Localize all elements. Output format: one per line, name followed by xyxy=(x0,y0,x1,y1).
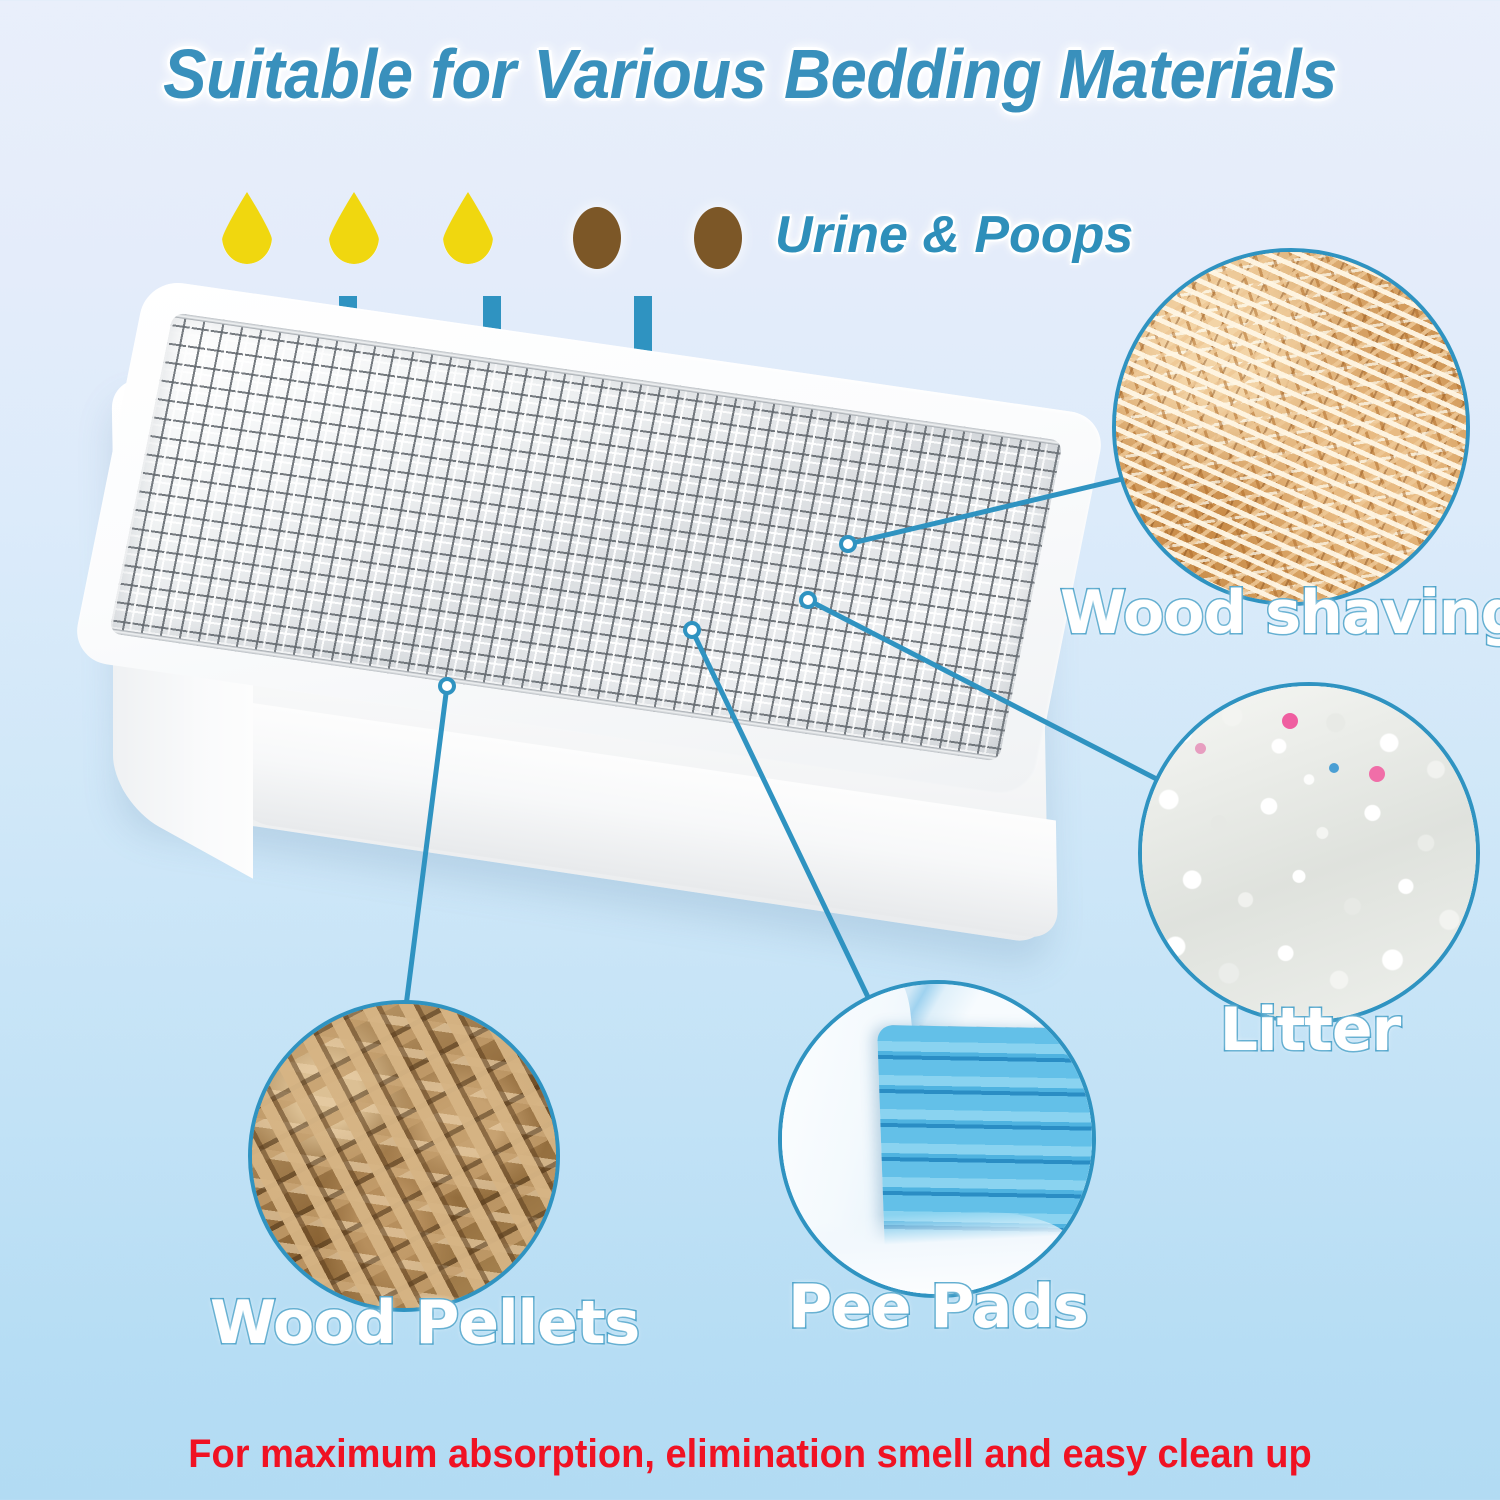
callout-dot-litter[interactable] xyxy=(799,591,817,609)
product-tray xyxy=(95,330,1105,955)
water-drop-icon xyxy=(329,192,379,264)
wood-shaving-circle[interactable] xyxy=(1112,248,1470,606)
wood-pellet-texture xyxy=(252,1004,556,1308)
callout-dot-wood-pellets[interactable] xyxy=(438,677,456,695)
poop-blob-icon xyxy=(694,207,742,269)
litter-speck-pink xyxy=(1282,713,1298,729)
pee-pads-label: Pee Pads xyxy=(760,1272,1116,1342)
wood-pellets-circle[interactable] xyxy=(248,1000,560,1312)
wood-shaving-texture xyxy=(1116,252,1466,602)
callout-dot-wood-shaving[interactable] xyxy=(839,535,857,553)
litter-speck-blue xyxy=(1329,763,1339,773)
wood-pellets-label: Wood Pellets xyxy=(210,1288,600,1358)
pee-pads-circle[interactable] xyxy=(778,980,1096,1298)
infographic-canvas: Suitable for Various Bedding Materials U… xyxy=(0,0,1500,1500)
wood-shaving-label: Wood shaving xyxy=(1060,578,1500,648)
poop-blob-icon xyxy=(573,207,621,269)
water-drop-icon xyxy=(222,192,272,264)
urine-poops-label: Urine & Poops xyxy=(775,205,1133,265)
litter-granule-texture xyxy=(1142,686,1476,1020)
litter-label: Litter xyxy=(1120,995,1500,1065)
callout-dot-pee-pads[interactable] xyxy=(683,621,701,639)
footer-tagline: For maximum absorption, elimination smel… xyxy=(38,1432,1463,1477)
water-drop-icon xyxy=(443,192,493,264)
pee-pads-texture xyxy=(782,984,1092,1294)
litter-circle[interactable] xyxy=(1138,682,1480,1024)
page-title: Suitable for Various Bedding Materials xyxy=(53,34,1448,114)
